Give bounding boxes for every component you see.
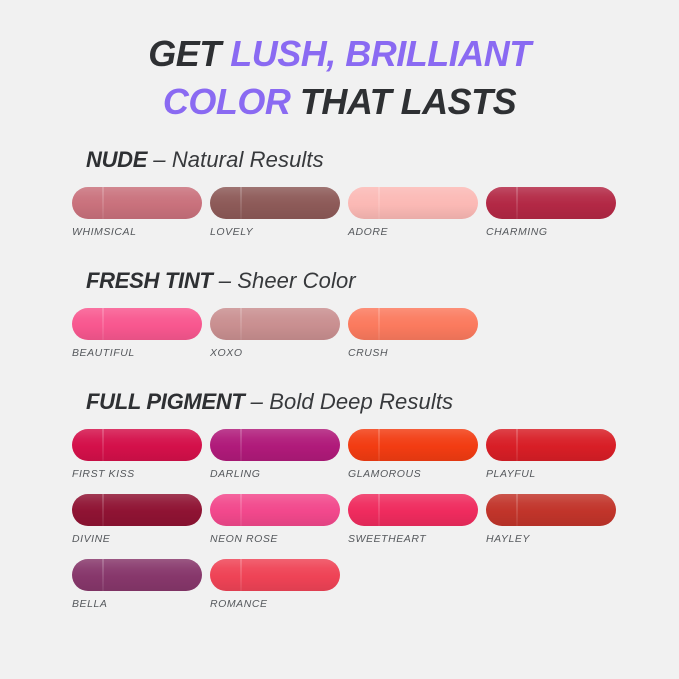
swatch-cell-hayley[interactable]: HAYLEY xyxy=(486,494,620,545)
swatch-cell-glamorous[interactable]: GLAMOROUS xyxy=(348,429,482,480)
section-description-label: – Bold Deep Results xyxy=(251,389,453,414)
shade-sections: NUDE – Natural Results WHIMSICAL LOVELY … xyxy=(0,147,679,610)
swatch-cell-sweetheart[interactable]: SWEETHEART xyxy=(348,494,482,545)
section-description-label: – Natural Results xyxy=(153,147,323,172)
color-swatch[interactable] xyxy=(348,187,478,219)
swatch-cell-beautiful[interactable]: BEAUTIFUL xyxy=(72,308,206,359)
section-category-label: NUDE xyxy=(86,147,147,172)
swatch-cell-romance[interactable]: ROMANCE xyxy=(210,559,344,610)
color-swatch[interactable] xyxy=(72,308,202,340)
swatch-label: ADORE xyxy=(348,226,482,238)
spacer xyxy=(72,244,649,268)
color-swatch[interactable] xyxy=(72,429,202,461)
swatch-label: WHIMSICAL xyxy=(72,226,206,238)
color-swatch[interactable] xyxy=(486,494,616,526)
swatch-row: WHIMSICAL LOVELY ADORE CHARMING xyxy=(72,187,649,238)
swatch-label: DARLING xyxy=(210,468,344,480)
swatch-label: BEAUTIFUL xyxy=(72,347,206,359)
swatch-label: XOXO xyxy=(210,347,344,359)
color-swatch[interactable] xyxy=(210,187,340,219)
headline-text-get: GET xyxy=(148,33,230,74)
swatch-cell-crush[interactable]: CRUSH xyxy=(348,308,482,359)
swatch-cell-xoxo[interactable]: XOXO xyxy=(210,308,344,359)
swatch-row: DIVINE NEON ROSE SWEETHEART HAYLEY xyxy=(72,494,649,545)
headline-accent-lush-brilliant: LUSH, BRILLIANT xyxy=(230,33,530,74)
swatch-row: BEAUTIFUL XOXO CRUSH xyxy=(72,308,649,359)
section-category-label: FULL PIGMENT xyxy=(86,389,245,414)
page-title: GET LUSH, BRILLIANT COLOR THAT LASTS xyxy=(0,0,679,125)
color-swatch[interactable] xyxy=(348,494,478,526)
section-nude: NUDE – Natural Results WHIMSICAL LOVELY … xyxy=(72,147,649,238)
spacer xyxy=(72,365,649,389)
swatch-cell-charming[interactable]: CHARMING xyxy=(486,187,620,238)
section-category-label: FRESH TINT xyxy=(86,268,213,293)
section-description-label: – Sheer Color xyxy=(219,268,356,293)
color-swatch[interactable] xyxy=(210,429,340,461)
swatch-cell-adore[interactable]: ADORE xyxy=(348,187,482,238)
swatch-cell-bella[interactable]: BELLA xyxy=(72,559,206,610)
section-fresh-tint: FRESH TINT – Sheer Color BEAUTIFUL XOXO … xyxy=(72,268,649,359)
swatch-label: DIVINE xyxy=(72,533,206,545)
section-full-pigment: FULL PIGMENT – Bold Deep Results FIRST K… xyxy=(72,389,649,610)
swatch-label: GLAMOROUS xyxy=(348,468,482,480)
swatch-cell-lovely[interactable]: LOVELY xyxy=(210,187,344,238)
swatch-row: FIRST KISS DARLING GLAMOROUS PLAYFUL xyxy=(72,429,649,480)
color-swatch[interactable] xyxy=(210,559,340,591)
section-header-full-pigment: FULL PIGMENT – Bold Deep Results xyxy=(86,389,649,415)
color-swatch[interactable] xyxy=(486,187,616,219)
swatch-label: SWEETHEART xyxy=(348,533,482,545)
swatch-cell-playful[interactable]: PLAYFUL xyxy=(486,429,620,480)
swatch-label: NEON ROSE xyxy=(210,533,344,545)
color-swatch[interactable] xyxy=(348,308,478,340)
swatch-cell-whimsical[interactable]: WHIMSICAL xyxy=(72,187,206,238)
color-swatch[interactable] xyxy=(72,559,202,591)
color-swatch[interactable] xyxy=(72,187,202,219)
swatch-label: HAYLEY xyxy=(486,533,620,545)
lipstick-shade-chart: GET LUSH, BRILLIANT COLOR THAT LASTS NUD… xyxy=(0,0,679,679)
section-header-nude: NUDE – Natural Results xyxy=(86,147,649,173)
swatch-row: BELLA ROMANCE xyxy=(72,559,649,610)
section-header-fresh-tint: FRESH TINT – Sheer Color xyxy=(86,268,649,294)
swatch-cell-neon-rose[interactable]: NEON ROSE xyxy=(210,494,344,545)
swatch-label: CHARMING xyxy=(486,226,620,238)
color-swatch[interactable] xyxy=(72,494,202,526)
swatch-label: CRUSH xyxy=(348,347,482,359)
swatch-label: PLAYFUL xyxy=(486,468,620,480)
color-swatch[interactable] xyxy=(348,429,478,461)
swatch-cell-divine[interactable]: DIVINE xyxy=(72,494,206,545)
headline-text-that-lasts: THAT LASTS xyxy=(290,81,516,122)
swatch-label: ROMANCE xyxy=(210,598,344,610)
swatch-cell-darling[interactable]: DARLING xyxy=(210,429,344,480)
headline-accent-color: COLOR xyxy=(163,81,291,122)
color-swatch[interactable] xyxy=(210,308,340,340)
swatch-label: BELLA xyxy=(72,598,206,610)
headline-line-1: GET LUSH, BRILLIANT xyxy=(0,30,679,78)
swatch-label: LOVELY xyxy=(210,226,344,238)
headline-line-2: COLOR THAT LASTS xyxy=(0,78,679,126)
color-swatch[interactable] xyxy=(486,429,616,461)
color-swatch[interactable] xyxy=(210,494,340,526)
swatch-label: FIRST KISS xyxy=(72,468,206,480)
swatch-cell-first-kiss[interactable]: FIRST KISS xyxy=(72,429,206,480)
